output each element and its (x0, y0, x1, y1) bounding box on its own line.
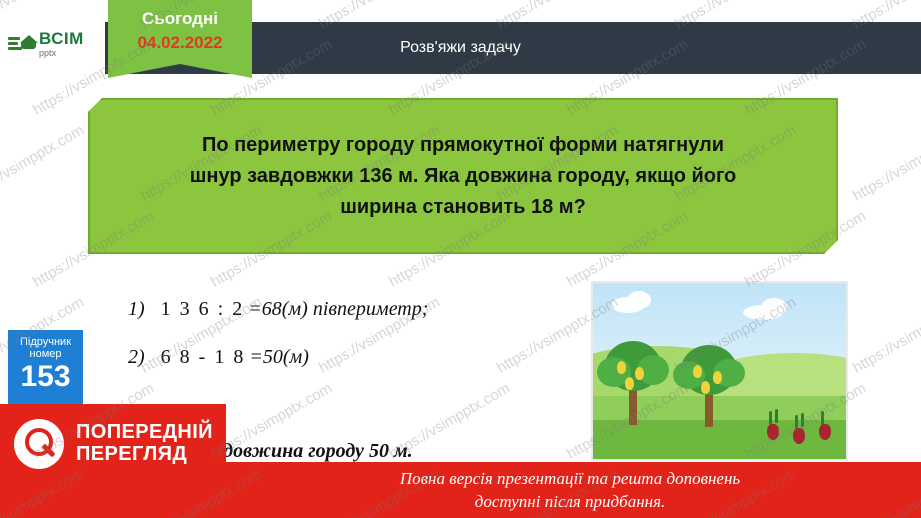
badge-label-2: номер (8, 348, 83, 360)
logo: ВСІМ pptx (0, 22, 105, 74)
step-2-expression: 6 8 - 1 8 (161, 346, 246, 368)
watermark-text: https://vsimpptx.com (850, 122, 921, 205)
today-label: Сьогодні (108, 9, 252, 29)
step-1-expression: 1 3 6 : 2 (161, 298, 245, 320)
solution-step-1: 1) 1 3 6 : 2 =68(м) півпериметр; (128, 298, 428, 321)
step-2-result: =50(м) (249, 346, 309, 368)
watermark-text: https://vsimpptx.com (0, 122, 87, 205)
badge-number: 153 (8, 362, 83, 392)
today-date: 04.02.2022 (108, 33, 252, 53)
task-line-2: шнур завдовжки 136 м. Яка довжина городу… (113, 161, 813, 192)
task-line-3: ширина становить 18 м? (113, 192, 813, 223)
preview-badge: ПОПЕРЕДНІЙ ПЕРЕГЛЯД (0, 404, 226, 483)
preview-line-1: ПОПЕРЕДНІЙ (76, 422, 213, 444)
graduation-cap-icon (8, 31, 34, 57)
magnifier-icon (14, 419, 64, 469)
step-2-number: 2) (128, 346, 145, 368)
preview-bottom-line-2: доступні після придбання. (230, 491, 910, 514)
preview-bottom-line-1: Повна версія презентації та решта доповн… (230, 468, 910, 491)
task-banner: По периметру городу прямокутної форми на… (88, 98, 838, 254)
logo-name: ВСІМ (39, 30, 84, 47)
badge-label-1: Підручник (8, 336, 83, 348)
preview-line-2: ПЕРЕГЛЯД (76, 444, 213, 466)
watermark-text: https://vsimpptx.com (850, 294, 921, 377)
solution-step-2: 2) 6 8 - 1 8 =50(м) (128, 346, 309, 369)
step-1-number: 1) (128, 298, 145, 320)
logo-sub: pptx (39, 49, 84, 58)
task-line-1: По периметру городу прямокутної форми на… (113, 130, 813, 161)
garden-illustration (591, 281, 848, 461)
step-1-result: =68(м) півпериметр; (248, 298, 428, 320)
